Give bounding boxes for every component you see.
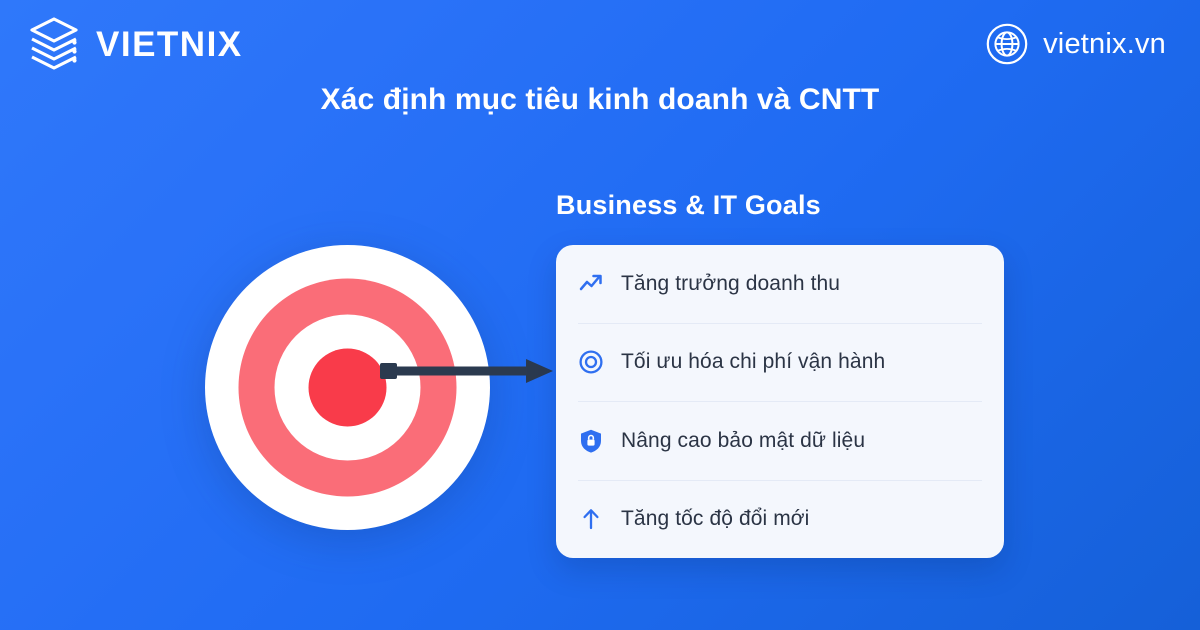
top-bar: VIETNIX vietnix.vn	[0, 0, 1200, 88]
list-item[interactable]: Tăng tốc độ đổi mới	[578, 481, 982, 559]
list-item[interactable]: Nâng cao bảo mật dữ liệu	[578, 402, 982, 481]
arrow-right-icon	[380, 355, 555, 387]
site-url-group[interactable]: vietnix.vn	[986, 23, 1166, 65]
brand-name: VIETNIX	[96, 27, 243, 62]
list-item-label: Tăng tốc độ đổi mới	[621, 507, 809, 531]
concentric-circles-icon	[578, 349, 604, 375]
shield-lock-icon	[578, 428, 604, 454]
list-item-label: Tăng trưởng doanh thu	[621, 272, 840, 296]
brand-logo-group[interactable]: VIETNIX	[26, 15, 243, 73]
list-item-label: Tối ưu hóa chi phí vận hành	[621, 350, 885, 374]
globe-icon	[986, 23, 1028, 65]
page-title: Xác định mục tiêu kinh doanh và CNTT	[0, 83, 1200, 117]
list-item-label: Nâng cao bảo mật dữ liệu	[621, 429, 865, 453]
bullseye-target-icon	[205, 245, 490, 530]
trending-up-icon	[578, 271, 604, 297]
goals-panel-title: Business & IT Goals	[556, 190, 821, 221]
site-url-text: vietnix.vn	[1043, 28, 1166, 61]
list-item[interactable]: Tăng trưởng doanh thu	[578, 245, 982, 324]
stacked-layers-icon	[26, 15, 82, 73]
list-item[interactable]: Tối ưu hóa chi phí vận hành	[578, 324, 982, 403]
arrow-up-icon	[578, 506, 604, 532]
goals-card: Tăng trưởng doanh thu Tối ưu hóa chi phí…	[556, 245, 1004, 558]
